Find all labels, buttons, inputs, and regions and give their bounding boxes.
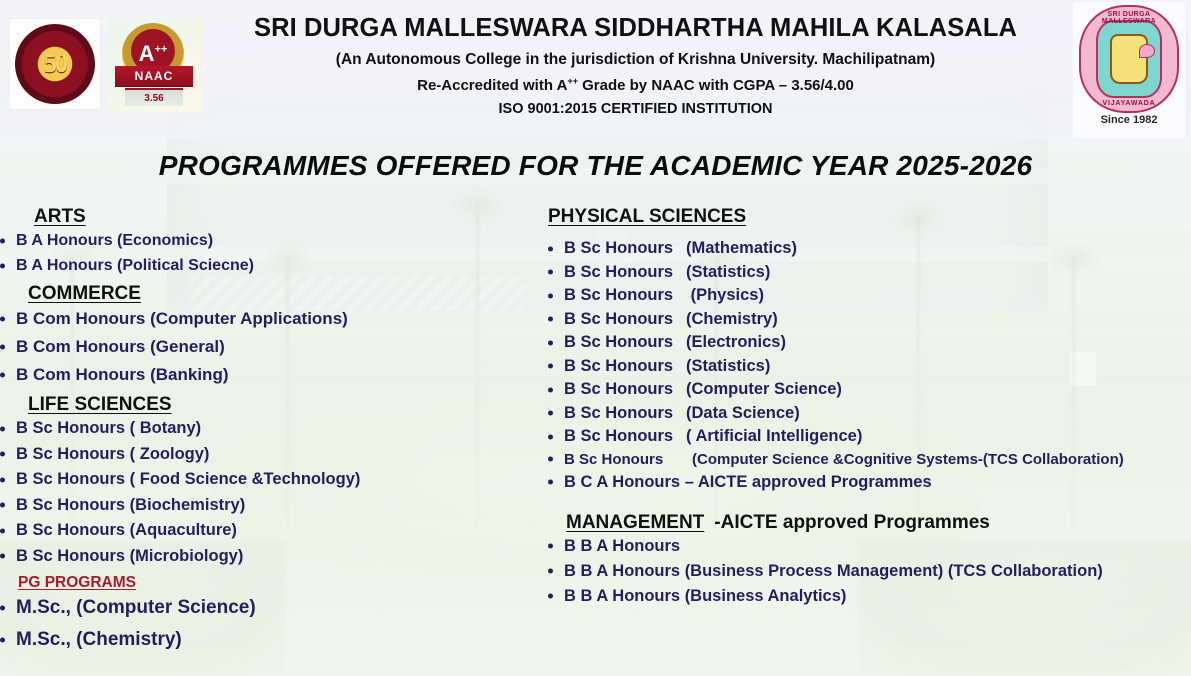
programme-specialisation: (Chemistry): [686, 310, 778, 328]
list-item: B A Honours (Political Sciecne): [0, 253, 520, 278]
programme-specialisation: ( Artificial Intelligence): [686, 427, 862, 445]
list-item: B Com Honours (General): [0, 333, 520, 361]
section-physical-sciences: PHYSICAL SCIENCES B Sc Honours(Mathemati…: [548, 206, 1188, 494]
list-item: B Sc Honours(Computer Science &Cognitive…: [548, 449, 1188, 470]
list-item: B Com Honours (Computer Applications): [0, 305, 520, 333]
programme-specialisation: (Data Science): [686, 404, 800, 422]
programme-lead: B Sc Honours: [564, 402, 686, 426]
programme-specialisation: (Statistics): [686, 263, 770, 281]
programme-specialisation: (Computer Science): [686, 380, 842, 398]
arts-programme-list: B A Honours (Economics) B A Honours (Pol…: [0, 228, 520, 278]
list-item: B C A Honours – AICTE approved Programme…: [548, 470, 1188, 494]
section-life-sciences: LIFE SCIENCES B Sc Honours ( Botany) B S…: [0, 394, 520, 569]
list-item: B B A Honours (Business Process Manageme…: [548, 559, 1188, 584]
pg-programme-list: M.Sc., (Computer Science) M.Sc., (Chemis…: [0, 592, 520, 656]
list-item: B Sc Honours( Artificial Intelligence): [548, 425, 1188, 449]
programme-specialisation: (Physics): [686, 286, 764, 304]
section-heading-pg-programs: PG PROGRAMS: [18, 574, 136, 592]
list-item: B Sc Honours (Microbiology): [0, 544, 520, 570]
programmes-content: ARTS B A Honours (Economics) B A Honours…: [0, 0, 1191, 676]
list-item: B Sc Honours(Electronics): [548, 331, 1188, 355]
section-pg-programs: PG PROGRAMS M.Sc., (Computer Science) M.…: [0, 574, 520, 656]
list-item: B Sc Honours(Statistics): [548, 355, 1188, 379]
section-heading-life-sciences: LIFE SCIENCES: [28, 394, 172, 416]
programme-lead: B Sc Honours: [564, 378, 686, 402]
management-heading-tail: -AICTE approved Programmes: [714, 512, 990, 533]
programme-specialisation: (Computer Science &Cognitive Systems-(TC…: [692, 451, 1124, 468]
programme-lead: B Sc Honours: [564, 261, 686, 285]
list-item: B Sc Honours (Aquaculture): [0, 518, 520, 544]
section-heading-arts: ARTS: [34, 206, 86, 228]
programme-lead: B Sc Honours: [564, 308, 686, 332]
programme-lead: B Sc Honours: [564, 425, 686, 449]
life-sciences-programme-list: B Sc Honours ( Botany) B Sc Honours ( Zo…: [0, 416, 520, 569]
list-item: B Sc Honours ( Food Science &Technology): [0, 467, 520, 493]
section-arts: ARTS B A Honours (Economics) B A Honours…: [0, 206, 520, 278]
list-item: B Sc Honours(Statistics): [548, 261, 1188, 285]
management-heading-row: MANAGEMENT-AICTE approved Programmes: [548, 512, 1188, 534]
list-item: B Com Honours (Banking): [0, 361, 520, 389]
left-column: ARTS B A Honours (Economics) B A Honours…: [0, 206, 520, 656]
list-item: B Sc Honours (Physics): [548, 284, 1188, 308]
list-item: B Sc Honours ( Zoology): [0, 442, 520, 468]
programme-lead: B Sc Honours: [564, 449, 692, 470]
list-item: B Sc Honours(Chemistry): [548, 308, 1188, 332]
list-item: B Sc Honours (Biochemistry): [0, 493, 520, 519]
right-column: PHYSICAL SCIENCES B Sc Honours(Mathemati…: [548, 206, 1188, 609]
section-heading-management: MANAGEMENT: [566, 512, 704, 534]
list-item: B B A Honours: [548, 534, 1188, 559]
programme-lead: B Sc Honours: [564, 331, 686, 355]
section-heading-commerce: COMMERCE: [28, 283, 141, 305]
list-item: B B A Honours (Business Analytics): [548, 584, 1188, 609]
programme-specialisation: (Mathematics): [686, 239, 797, 257]
list-item: B Sc Honours(Computer Science): [548, 378, 1188, 402]
section-management: MANAGEMENT-AICTE approved Programmes B B…: [548, 512, 1188, 609]
programme-lead: B Sc Honours: [564, 237, 686, 261]
physical-sciences-programme-list: B Sc Honours(Mathematics) B Sc Honours(S…: [548, 237, 1188, 470]
programme-specialisation: (Electronics): [686, 333, 786, 351]
section-commerce: COMMERCE B Com Honours (Computer Applica…: [0, 283, 520, 389]
programme-lead: B Sc Honours: [564, 284, 686, 308]
programme-lead: B Sc Honours: [564, 355, 686, 379]
list-item: M.Sc., (Computer Science): [0, 592, 520, 624]
section-heading-physical-sciences: PHYSICAL SCIENCES: [548, 206, 746, 228]
programmes-poster: 50 A++ NAAC 3.56 SRI DURGA MALLESWARA SI…: [0, 0, 1191, 676]
management-programme-list: B B A Honours B B A Honours (Business Pr…: [548, 534, 1188, 609]
list-item: B Sc Honours(Mathematics): [548, 237, 1188, 261]
list-item: B A Honours (Economics): [0, 228, 520, 253]
commerce-programme-list: B Com Honours (Computer Applications) B …: [0, 305, 520, 389]
bca-programme-list: B C A Honours – AICTE approved Programme…: [548, 470, 1188, 494]
list-item: M.Sc., (Chemistry): [0, 624, 520, 656]
list-item: B Sc Honours(Data Science): [548, 402, 1188, 426]
programme-specialisation: (Statistics): [686, 357, 770, 375]
list-item: B Sc Honours ( Botany): [0, 416, 520, 442]
